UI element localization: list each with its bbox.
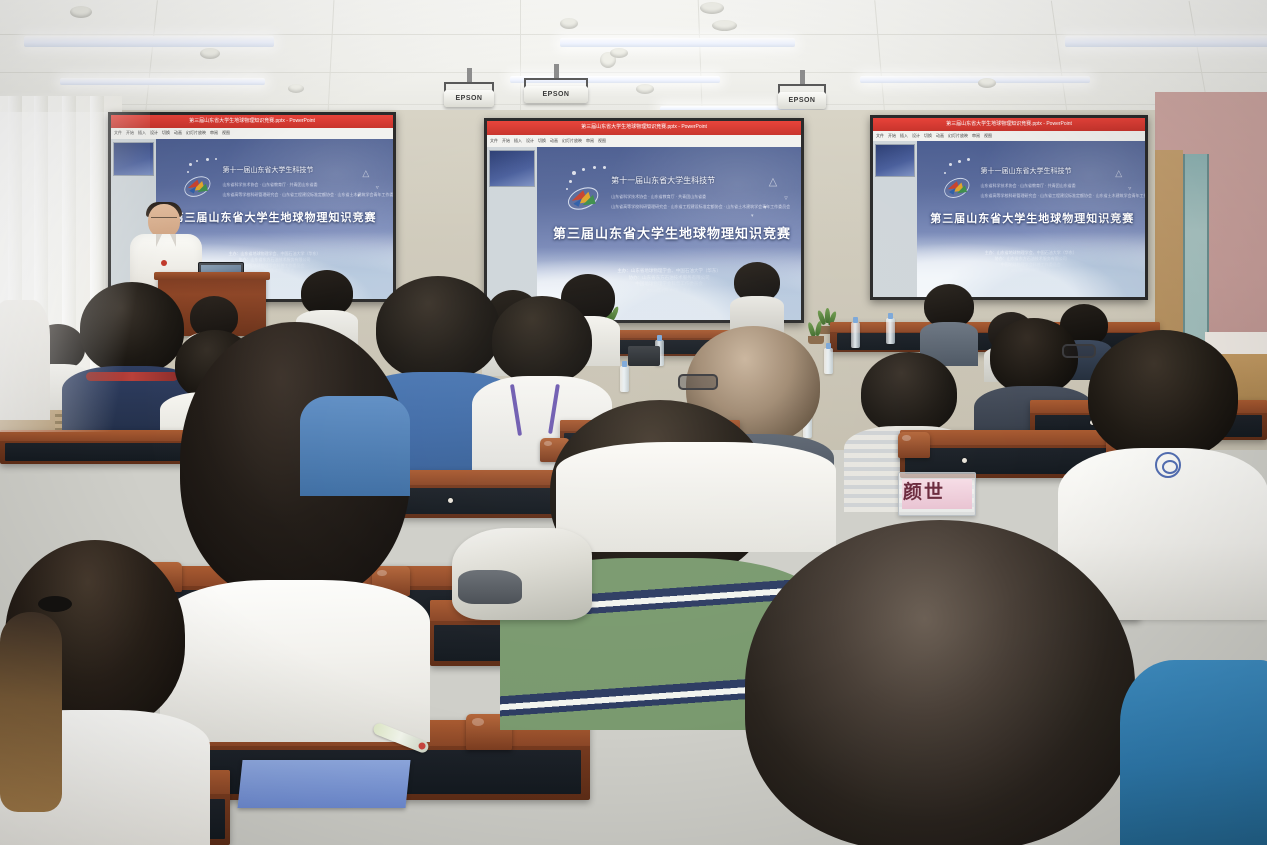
menu-item[interactable]: 设计: [150, 130, 158, 136]
bird-glyph-icon: ▾: [764, 204, 767, 211]
glasses-icon: [1062, 344, 1096, 358]
slide-thumbnail-pane[interactable]: [873, 141, 917, 297]
menu-item[interactable]: 开始: [502, 138, 510, 144]
projector-body: EPSON: [778, 92, 826, 109]
ceiling-light: [1065, 36, 1267, 47]
slide-subline-1: 山东省科学技术协会 · 山东省教育厅 · 共青团山东省委: [222, 182, 378, 188]
smoke-detector: [978, 78, 996, 88]
audience-person-blue-tee: [1120, 660, 1267, 845]
app-menubar[interactable]: 文件 开始 插入 设计 切换 动画 幻灯片放映 审阅 视图: [487, 135, 801, 147]
photo-canvas: EPSON EPSON EPSON 第三届山东省大学生地球物理知识竞赛.pptx…: [0, 0, 1267, 845]
slide-subline-2: 山东省高等学校科研管理研究会 · 山东省工程建设标准定额协会 · 山东省土木建筑…: [222, 192, 378, 198]
projection-screen-right[interactable]: 第三届山东省大学生地球物理知识竞赛.pptx - PowerPoint 文件 开…: [870, 115, 1148, 300]
menu-item[interactable]: 切换: [538, 138, 546, 144]
menu-item[interactable]: 幻灯片放映: [562, 138, 582, 144]
app-canvas: 第十一届山东省大学生科技节 山东省科学技术协会 · 山东省教育厅 · 共青团山东…: [873, 141, 1145, 297]
projector-body: EPSON: [524, 86, 588, 103]
slide-thumbnail[interactable]: [489, 150, 535, 187]
smoke-detector: [636, 84, 654, 94]
menu-item[interactable]: 文件: [490, 138, 498, 144]
smoke-detector: [288, 84, 304, 93]
menu-item[interactable]: 文件: [876, 133, 884, 139]
bird-glyph-icon: △: [362, 168, 369, 179]
tshirt-logo-icon: [1155, 452, 1181, 478]
menu-item[interactable]: 审阅: [210, 130, 218, 136]
audience-person: [300, 396, 410, 496]
bird-glyph-icon: △: [1115, 168, 1122, 179]
collar: [170, 234, 176, 247]
bird-glyph-icon: △: [769, 175, 777, 188]
glasses-icon: [151, 217, 177, 223]
jacket-dark-fold: [458, 570, 522, 604]
projector-body: EPSON: [444, 90, 494, 107]
pen-cap: [417, 741, 426, 750]
menu-item[interactable]: 动画: [936, 133, 944, 139]
ceiling-light: [860, 76, 1090, 83]
ponytail: [0, 612, 62, 812]
slide: 第十一届山东省大学生科技节 山东省科学技术协会 · 山东省教育厅 · 共青团山东…: [917, 141, 1145, 297]
menu-item[interactable]: 切换: [162, 130, 170, 136]
menu-item[interactable]: 开始: [126, 130, 134, 136]
seat-armrest: [898, 432, 930, 458]
app-titlebar: 第三届山东省大学生地球物理知识竞赛.pptx - PowerPoint: [873, 118, 1145, 131]
menu-item[interactable]: 视图: [598, 138, 606, 144]
menu-item[interactable]: 设计: [526, 138, 534, 144]
collar: [156, 234, 162, 247]
event-emblem-icon: [566, 173, 606, 218]
ceiling-light: [560, 38, 795, 47]
menu-item[interactable]: 幻灯片放映: [948, 133, 968, 139]
slide-header: 第十一届山东省大学生科技节: [222, 165, 359, 175]
menu-item[interactable]: 切换: [924, 133, 932, 139]
bird-glyph-icon: ▿: [376, 184, 379, 191]
name-placard: 颜世: [898, 472, 976, 516]
event-emblem-icon: [942, 165, 976, 205]
event-emblem-icon: [182, 163, 218, 205]
hair-tie: [38, 596, 72, 612]
slide-header: 第十一届山东省大学生科技节: [611, 175, 764, 186]
slide-main-title: 第三届山东省大学生地球物理知识竞赛: [930, 210, 1131, 226]
audience-laptop: [628, 346, 660, 366]
water-bottle: [620, 366, 629, 392]
smoke-detector: [712, 20, 737, 31]
menu-item[interactable]: 视图: [222, 130, 230, 136]
menu-item[interactable]: 幻灯片放映: [186, 130, 206, 136]
bird-glyph-icon: ▾: [751, 213, 754, 219]
smoke-detector: [610, 48, 628, 58]
slide-thumbnail[interactable]: [113, 142, 154, 176]
ceiling-light: [24, 36, 274, 47]
slide-subline-2: 山东省高等学校科研管理研究会 · 山东省工程建设标准定额协会 · 山东省土木建筑…: [611, 204, 785, 210]
slide-header: 第十一届山东省大学生科技节: [980, 166, 1113, 176]
bird-glyph-icon: ▿: [784, 194, 788, 202]
menu-item[interactable]: 插入: [514, 138, 522, 144]
smoke-detector: [560, 18, 578, 29]
placard-text: 颜世: [903, 477, 945, 504]
foreground-person-head: [740, 520, 1140, 845]
menu-item[interactable]: 插入: [138, 130, 146, 136]
water-bottle: [886, 318, 895, 344]
draped-jacket: [452, 528, 592, 620]
menu-item[interactable]: 动画: [174, 130, 182, 136]
app-titlebar: 第三届山东省大学生地球物理知识竞赛.pptx - PowerPoint: [111, 115, 393, 128]
blue-folder: [237, 760, 410, 808]
smoke-detector: [700, 2, 724, 14]
glasses-icon: [678, 374, 718, 390]
audience-person: [730, 262, 784, 334]
menu-item[interactable]: 审阅: [586, 138, 594, 144]
bird-glyph-icon: ▾: [357, 193, 360, 199]
water-bottle: [851, 322, 860, 348]
menu-item[interactable]: 审阅: [972, 133, 980, 139]
lapel-badge: [161, 260, 167, 266]
app-menubar[interactable]: 文件 开始 插入 设计 切换 动画 幻灯片放映 审阅 视图: [873, 131, 1145, 142]
menu-item[interactable]: 动画: [550, 138, 558, 144]
audience-person: [0, 300, 50, 420]
menu-item[interactable]: 设计: [912, 133, 920, 139]
menu-item[interactable]: 文件: [114, 130, 122, 136]
menu-item[interactable]: 视图: [984, 133, 992, 139]
slide-subline-2: 山东省高等学校科研管理研究会 · 山东省工程建设标准定额协会 · 山东省土木建筑…: [980, 193, 1131, 199]
slide-subline-1: 山东省科学技术协会 · 山东省教育厅 · 共青团山东省委: [611, 194, 785, 200]
slide-thumbnail[interactable]: [875, 144, 915, 177]
slide-subline-1: 山东省科学技术协会 · 山东省教育厅 · 共青团山东省委: [980, 183, 1131, 189]
slide-main-title: 第三届山东省大学生地球物理知识竞赛: [553, 223, 785, 242]
smoke-detector: [200, 48, 220, 59]
podium-top: [154, 272, 270, 280]
bird-glyph-icon: ▿: [1128, 185, 1131, 192]
smoke-detector: [70, 6, 92, 18]
app-menubar[interactable]: 文件 开始 插入 设计 切换 动画 幻灯片放映 审阅 视图: [111, 128, 393, 139]
ceiling-light: [60, 78, 265, 85]
app-titlebar: 第三届山东省大学生地球物理知识竞赛.pptx - PowerPoint: [487, 121, 801, 135]
menu-item[interactable]: 开始: [888, 133, 896, 139]
menu-item[interactable]: 插入: [900, 133, 908, 139]
